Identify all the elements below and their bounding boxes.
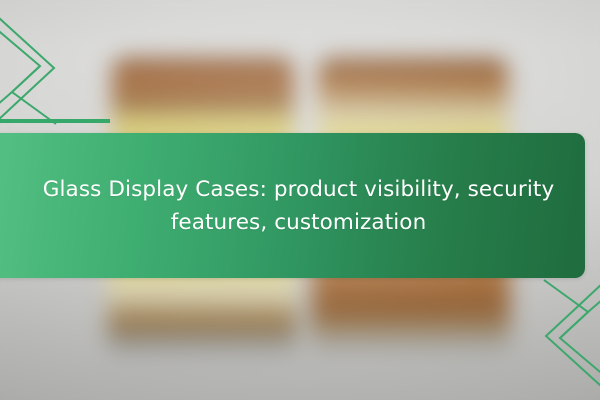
title-banner-inner: Glass Display Cases: product visibility,… bbox=[4, 173, 564, 239]
page-title: Glass Display Cases: product visibility,… bbox=[34, 173, 564, 239]
title-banner: Glass Display Cases: product visibility,… bbox=[0, 133, 585, 278]
image-card: Glass Display Cases: product visibility,… bbox=[0, 0, 600, 400]
accent-rule bbox=[0, 119, 110, 123]
